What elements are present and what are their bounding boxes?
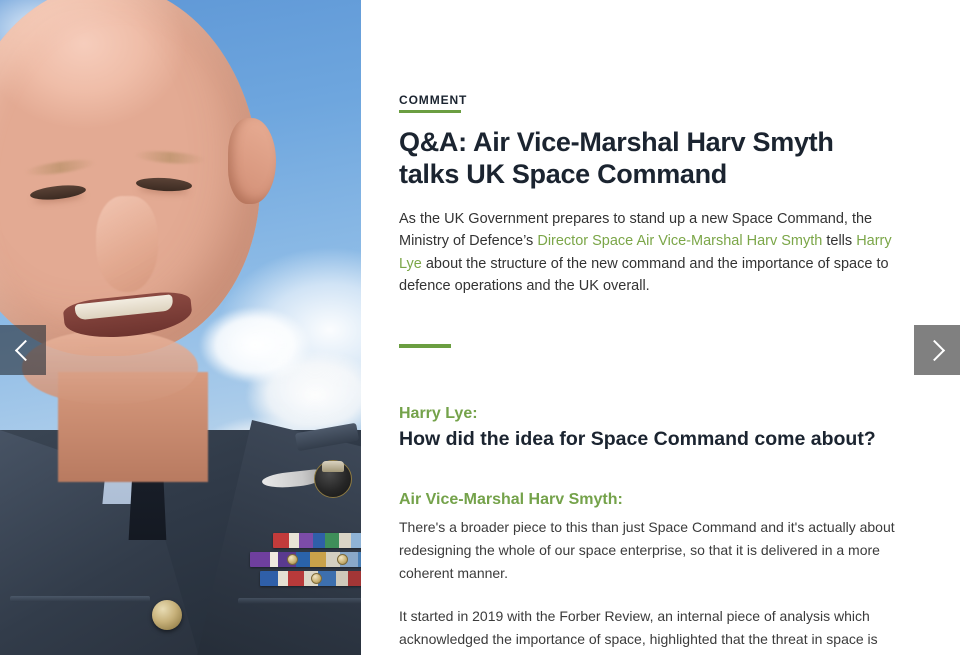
crown-icon: [322, 461, 344, 472]
qa-question-block: Harry Lye: How did the idea for Space Co…: [399, 404, 899, 452]
ribbon-row: [273, 533, 361, 548]
kicker-underline: [399, 110, 461, 113]
interview-question: How did the idea for Space Command come …: [399, 427, 899, 451]
chin: [22, 330, 198, 404]
speaker-label-interviewee: Air Vice-Marshal Harv Smyth:: [399, 490, 899, 509]
answer-paragraph: There's a broader piece to this than jus…: [399, 516, 895, 584]
ribbon-rosette: [337, 554, 348, 565]
answer-paragraph: It started in 2019 with the Forber Revie…: [399, 605, 895, 655]
standfirst: As the UK Government prepares to stand u…: [399, 208, 907, 298]
ribbon-rosette: [287, 554, 298, 565]
raf-pilot-wings-badge: [262, 460, 358, 498]
kicker-group: COMMENT: [399, 94, 467, 113]
section-divider: [399, 344, 451, 348]
speaker-label-interviewer: Harry Lye:: [399, 404, 899, 423]
article-content: COMMENT Q&A: Air Vice-Marshal Harv Smyth…: [399, 0, 904, 655]
standfirst-text-3: about the structure of the new command a…: [399, 256, 889, 294]
link-director-space[interactable]: Director Space Air Vice-Marshal Harv Smy…: [537, 233, 822, 249]
ear-right: [228, 118, 276, 204]
jacket-pocket-left: [10, 596, 150, 602]
standfirst-text-2: tells: [822, 233, 856, 249]
nose: [96, 196, 158, 292]
ribbon-rosette: [311, 573, 322, 584]
category-kicker[interactable]: COMMENT: [399, 94, 467, 106]
jacket-pocket-right: [238, 598, 361, 604]
qa-answer-block: Air Vice-Marshal Harv Smyth: There's a b…: [399, 490, 899, 655]
chevron-right-icon: [924, 339, 945, 360]
medal-ribbon-bars: [245, 533, 361, 591]
page-title: Q&A: Air Vice-Marshal Harv Smyth talks U…: [399, 127, 889, 191]
carousel-next-button[interactable]: [914, 325, 960, 375]
chevron-left-icon: [15, 339, 36, 360]
hero-image: [0, 0, 361, 655]
article-page: COMMENT Q&A: Air Vice-Marshal Harv Smyth…: [0, 0, 960, 655]
wing-feather: [261, 469, 320, 490]
carousel-prev-button[interactable]: [0, 325, 46, 375]
jacket-button: [152, 600, 182, 630]
